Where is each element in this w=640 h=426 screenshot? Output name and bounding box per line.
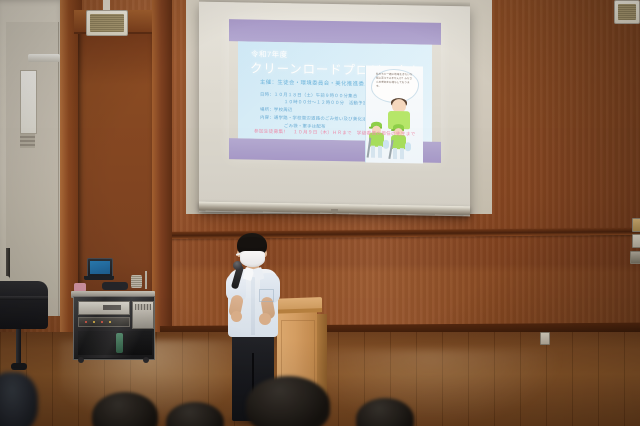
hall-door[interactable] <box>6 22 59 316</box>
wall-plate-outlet[interactable] <box>630 251 640 264</box>
slide-body-line: 内容：通学路・学校周辺道路のごみ拾い及び美化活動 <box>260 115 371 123</box>
face-mask <box>240 251 265 267</box>
rack-amplifier[interactable] <box>132 301 154 329</box>
presenter-hand-left <box>231 311 242 322</box>
slide-body-line: 場所：学校周辺 <box>260 107 293 114</box>
trash-bag <box>405 142 411 151</box>
speaker-grille <box>618 4 636 20</box>
child-leg <box>400 148 404 159</box>
wall-pillar-right <box>152 0 172 362</box>
podium-side-panel <box>317 314 327 396</box>
speech-bubble-text: 私たちと一緒に地域をきれいな街に変えてみませんか？みなさんの参加をお待ちしており… <box>376 73 414 90</box>
presenter-hair-fringe <box>238 237 266 248</box>
presenter-hand-right <box>259 313 271 325</box>
door-vent <box>20 134 35 148</box>
antenna-rod <box>145 271 147 289</box>
speaker-grille <box>90 14 124 32</box>
projected-slide: 令和7年度 クリーンロードプロジェクト 主催：生徒会・環境委員会・美化推進委員会… <box>229 19 441 163</box>
trash-bag <box>383 140 389 149</box>
mesh-basket-item <box>131 275 142 288</box>
status-led <box>93 321 95 323</box>
rack-mixer[interactable] <box>78 317 130 327</box>
floor-outlet[interactable] <box>540 332 550 345</box>
door-window <box>20 70 37 134</box>
dark-device-item <box>102 282 128 290</box>
wall-plate-switch[interactable] <box>632 234 640 248</box>
status-led <box>85 321 87 323</box>
rack-caster <box>78 357 84 363</box>
rack-display <box>103 305 121 310</box>
piano-caster <box>11 363 27 370</box>
rack-lower-shelf <box>78 331 152 355</box>
rack-caster <box>143 357 149 363</box>
wall-plate-amber[interactable] <box>632 218 640 232</box>
covered-piano <box>0 281 48 329</box>
photograph-scene: 令和7年度 クリーンロードプロジェクト 主催：生徒会・環境委員会・美化推進委員会… <box>0 0 640 426</box>
door-closer <box>28 54 60 62</box>
bottle-in-rack <box>116 333 123 353</box>
slide-body-line: １０時００分〜１２時００分 活動予定 <box>270 99 367 107</box>
wall-speaker-right <box>614 0 640 24</box>
child-leg <box>371 146 375 158</box>
child-leg <box>378 146 382 158</box>
slide-content-area: 令和7年度 クリーンロードプロジェクト 主催：生徒会・環境委員会・美化推進委員会… <box>238 41 432 141</box>
shirt-placket <box>251 277 255 335</box>
screen-pull-tab[interactable] <box>331 209 338 214</box>
piano-cover-fold <box>0 296 48 300</box>
slide-illustration: 私たちと一緒に地域をきれいな街に変えてみませんか？みなさんの参加をお待ちしており… <box>365 66 423 164</box>
wall-speaker-left <box>86 10 128 36</box>
floor-reflection-secondary <box>300 350 560 426</box>
shirt-pocket <box>259 289 274 302</box>
laptop-on-rack[interactable] <box>87 258 113 278</box>
audience-head <box>246 376 330 426</box>
slide-subtitle: 主催：生徒会・環境委員会・美化推進委員会 <box>260 78 376 88</box>
piano-leg <box>16 329 21 365</box>
laptop-base <box>84 276 114 280</box>
amplifier-vents <box>135 304 151 310</box>
av-equipment-rack[interactable] <box>73 296 155 360</box>
rack-cd-player[interactable] <box>78 301 130 315</box>
child-leg <box>393 148 397 159</box>
status-led <box>109 321 111 323</box>
laptop-screen <box>90 261 110 274</box>
status-led <box>101 321 103 323</box>
